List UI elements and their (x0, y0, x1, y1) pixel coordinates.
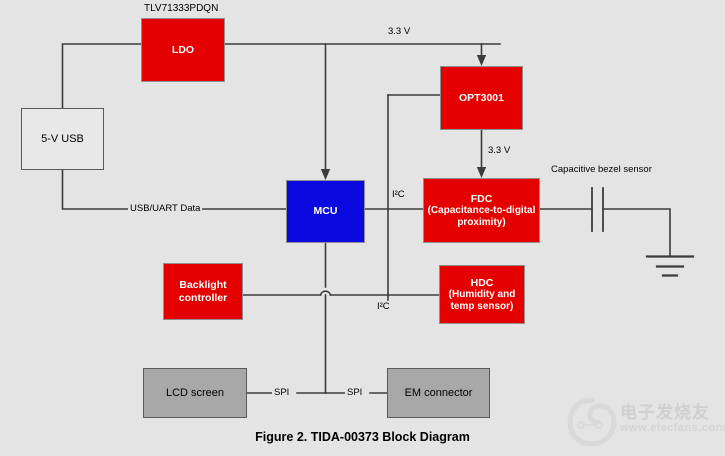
label-3v3-rail-top: 3.3 V (388, 26, 410, 37)
arrowhead-fdc (477, 167, 486, 178)
block-diagram-figure: LDO 5-V USB OPT3001 MCU FDC (Capacitance… (0, 0, 725, 456)
label-spi-right: SPI (345, 387, 364, 398)
block-backlight-controller[interactable]: Backlight controller (163, 263, 243, 320)
label-capacitive-bezel-sensor: Capacitive bezel sensor (551, 164, 652, 175)
wire-capacitor-to-ground (603, 209, 670, 256)
label-i2c-fdc: I²C (392, 189, 405, 200)
block-fdc-sublabel-2: proximity) (457, 217, 505, 229)
block-opt3001-label: OPT3001 (459, 92, 504, 104)
block-opt3001[interactable]: OPT3001 (440, 66, 523, 130)
block-5v-usb-label: 5-V USB (41, 133, 84, 146)
wire-usb-uart-left (63, 170, 132, 209)
block-fdc[interactable]: FDC (Capacitance-to-digital proximity) (423, 178, 540, 243)
block-5v-usb[interactable]: 5-V USB (21, 108, 104, 170)
block-hdc-label: HDC (471, 277, 494, 289)
label-i2c-hdc: I²C (377, 301, 390, 312)
label-3v3-rail-fdc: 3.3 V (488, 145, 510, 156)
block-ldo[interactable]: LDO (141, 18, 225, 82)
figure-caption: Figure 2. TIDA-00373 Block Diagram (0, 430, 725, 444)
block-lcd-screen-label: LCD screen (166, 387, 224, 400)
block-backlight-label-2: controller (179, 292, 227, 304)
block-hdc-sublabel-1: (Humidity and (449, 289, 516, 301)
block-lcd-screen[interactable]: LCD screen (143, 368, 247, 418)
label-usb-uart-data: USB/UART Data (128, 203, 202, 214)
block-backlight-label-1: Backlight (179, 279, 226, 291)
block-fdc-sublabel-1: (Capacitance-to-digital (428, 205, 536, 217)
block-em-connector-label: EM connector (405, 387, 473, 400)
block-ldo-label: LDO (172, 44, 194, 56)
block-hdc[interactable]: HDC (Humidity and temp sensor) (439, 265, 525, 324)
block-mcu-label: MCU (314, 205, 338, 217)
block-em-connector[interactable]: EM connector (387, 368, 490, 418)
block-hdc-sublabel-2: temp sensor) (451, 301, 514, 313)
block-fdc-label: FDC (471, 193, 493, 205)
wire-usb-to-ldo (63, 44, 142, 108)
block-mcu[interactable]: MCU (286, 180, 365, 243)
label-ldo-part-number: TLV71333PDQN (144, 3, 218, 14)
arrowhead-opt3001 (477, 55, 486, 66)
label-spi-left: SPI (272, 387, 291, 398)
arrowhead-mcu (321, 169, 330, 180)
